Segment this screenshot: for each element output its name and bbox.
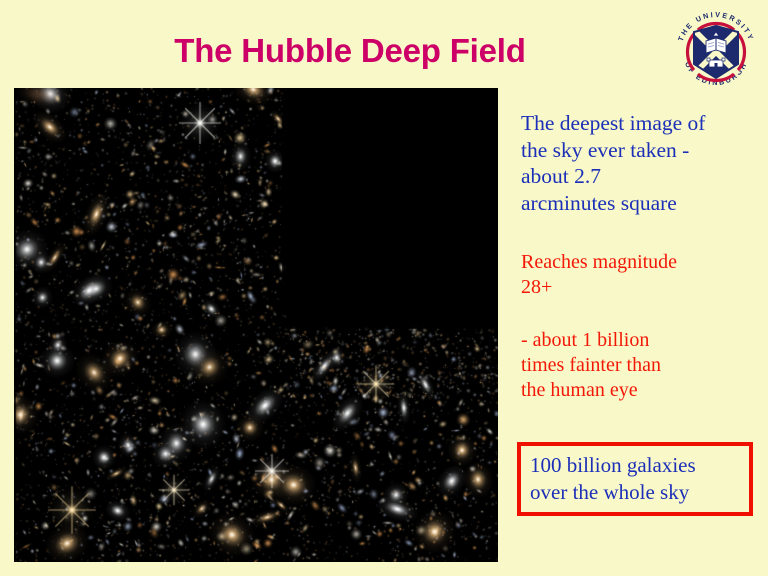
caption-line: times fainter than (521, 353, 757, 378)
crest-icon: THE UNIVERSITY OF EDINBURGH (672, 8, 760, 96)
caption-line: arcminutes square (521, 190, 757, 217)
callout-line: over the whole sky (530, 479, 750, 506)
hubble-deep-field-canvas (14, 88, 498, 562)
callout-box: 100 billion galaxies over the whole sky (517, 442, 753, 516)
caption-line: 28+ (521, 275, 757, 300)
page-title: The Hubble Deep Field (0, 32, 700, 70)
caption-line: The deepest image of (521, 110, 757, 137)
university-crest-logo: THE UNIVERSITY OF EDINBURGH (672, 8, 760, 96)
caption-deepest-image: The deepest image of the sky ever taken … (521, 110, 757, 217)
callout-text: 100 billion galaxies over the whole sky (530, 452, 750, 505)
caption-line: the human eye (521, 378, 757, 403)
caption-reaches-magnitude: Reaches magnitude 28+ (521, 250, 757, 300)
callout-line: 100 billion galaxies (530, 452, 750, 479)
slide-canvas: The Hubble Deep Field THE UNIVERSITY OF … (0, 0, 768, 576)
caption-fainter-than-eye: - about 1 billion times fainter than the… (521, 328, 757, 402)
caption-line: Reaches magnitude (521, 250, 757, 275)
hubble-deep-field-image (14, 88, 498, 562)
caption-line: the sky ever taken - (521, 137, 757, 164)
caption-line: about 2.7 (521, 163, 757, 190)
caption-line: - about 1 billion (521, 328, 757, 353)
